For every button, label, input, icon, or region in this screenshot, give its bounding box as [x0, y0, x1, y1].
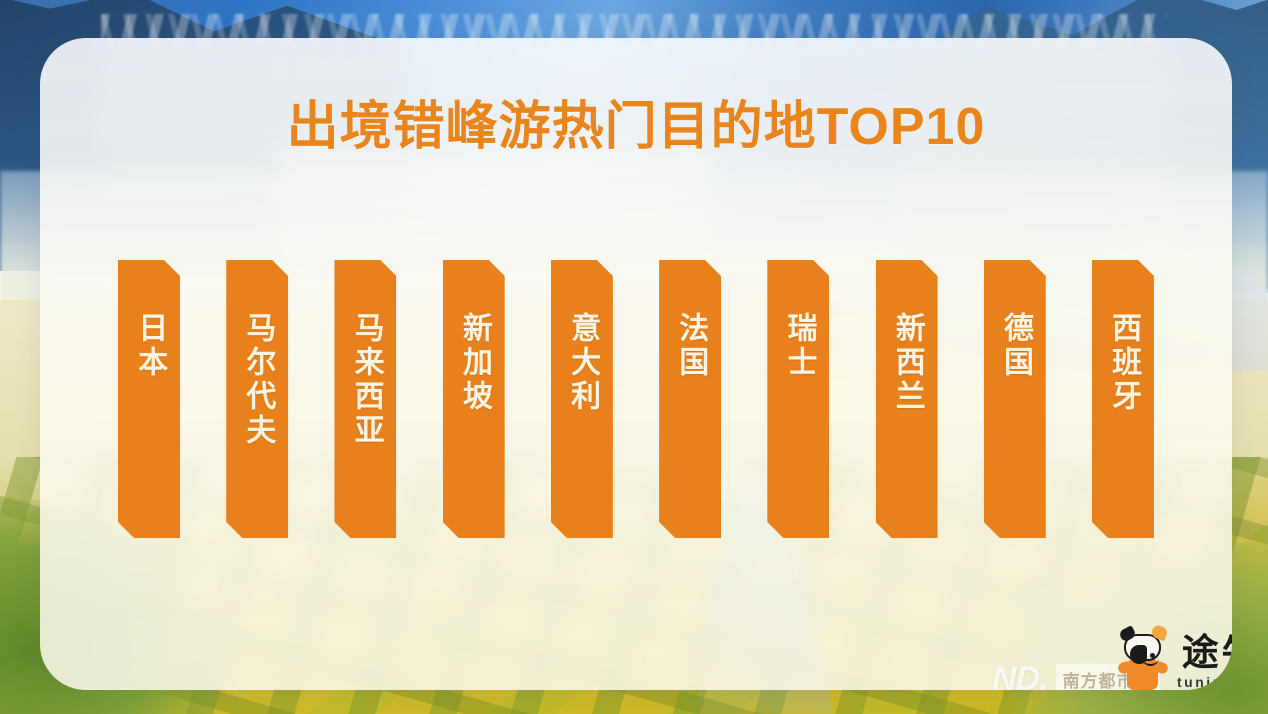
bar-label: 马来西亚 [346, 312, 384, 448]
bar-rank-10[interactable]: 西班牙 [1092, 260, 1154, 538]
bar-rank-7[interactable]: 瑞士 [767, 260, 829, 538]
tuniu-brand-cn: 途牛 [1182, 634, 1232, 671]
content-card: 出境错峰游热门目的地TOP10 日本 马尔代夫 马来西亚 新加坡 意大利 法国 … [40, 38, 1232, 690]
bar-rank-6[interactable]: 法国 [659, 260, 721, 538]
tuniu-brand-en: tuniu.com [1177, 674, 1232, 690]
bar-label: 新加坡 [454, 312, 492, 414]
ranking-bar-chart: 日本 马尔代夫 马来西亚 新加坡 意大利 法国 瑞士 新西兰 [118, 260, 1154, 540]
bar-label: 瑞士 [779, 312, 817, 380]
bar-label: 日本 [130, 312, 168, 380]
infographic-canvas: 出境错峰游热门目的地TOP10 日本 马尔代夫 马来西亚 新加坡 意大利 法国 … [0, 0, 1268, 714]
bar-rank-1[interactable]: 日本 [118, 260, 180, 538]
cow-mascot-icon [1118, 626, 1168, 690]
bar-rank-9[interactable]: 德国 [984, 260, 1046, 538]
bar-label: 西班牙 [1104, 312, 1142, 414]
bar-rank-5[interactable]: 意大利 [551, 260, 613, 538]
tuniu-wordmark: 途牛 tuniu.com [1177, 634, 1232, 690]
bar-rank-8[interactable]: 新西兰 [876, 260, 938, 538]
bar-label: 马尔代夫 [238, 312, 276, 448]
page-title: 出境错峰游热门目的地TOP10 [40, 84, 1232, 159]
nandu-logo-text: ND. [992, 660, 1048, 690]
bar-label: 法国 [671, 312, 709, 380]
bar-rank-2[interactable]: 马尔代夫 [226, 260, 288, 538]
bar-label: 德国 [996, 312, 1034, 380]
bar-rank-3[interactable]: 马来西亚 [334, 260, 396, 538]
bar-label: 新西兰 [887, 312, 925, 414]
bar-rank-4[interactable]: 新加坡 [443, 260, 505, 538]
bar-label: 意大利 [563, 312, 601, 414]
tuniu-logo: 途牛 tuniu.com [1118, 626, 1232, 690]
